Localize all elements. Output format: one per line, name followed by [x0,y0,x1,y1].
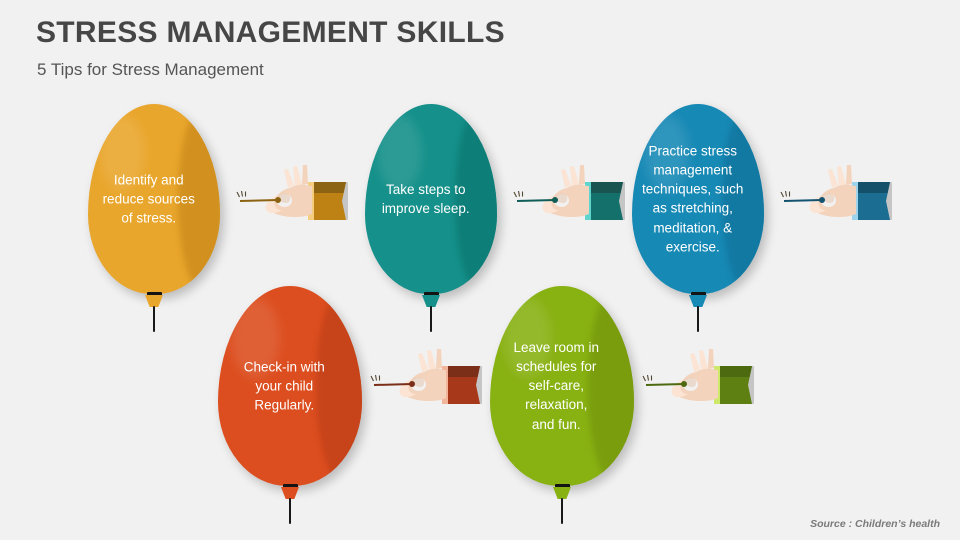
source-credit: Source : Children’s health [810,518,940,530]
hand-holding-pin-icon [644,340,764,420]
balloon-4-label: Check-in with your child Regularly. [227,357,342,414]
hand-holding-pin-icon [372,340,492,420]
balloon-5[interactable]: Leave room in schedules for self-care, r… [490,286,634,486]
balloon-2-label: Take steps to improve sleep. [373,180,479,218]
balloon-5-label: Leave room in schedules for self-care, r… [499,338,614,434]
balloon-knot-band [555,484,570,488]
balloon-string-icon [289,498,291,524]
page-subtitle: 5 Tips for Stress Management [37,60,264,80]
balloon-knot-band [283,484,298,488]
hand-holding-pin-icon [238,156,358,236]
balloon-1[interactable]: Identify and reduce sources of stress. [88,104,220,294]
slide-canvas: STRESS MANAGEMENT SKILLS 5 Tips for Stre… [0,0,960,540]
hand-holding-pin-icon [515,156,635,236]
balloon-3[interactable]: Practice stress management techniques, s… [632,104,764,294]
balloon-3-label: Practice stress management techniques, s… [640,142,746,257]
balloon-1-label: Identify and reduce sources of stress. [96,170,202,227]
balloon-string-icon [697,306,699,332]
balloon-knot-band [147,292,162,296]
balloon-string-icon [153,306,155,332]
hand-holding-pin-icon [782,156,902,236]
page-title: STRESS MANAGEMENT SKILLS [36,16,505,50]
balloon-knot-band [691,292,706,296]
balloon-knot-band [424,292,439,296]
balloon-4[interactable]: Check-in with your child Regularly. [218,286,362,486]
balloon-string-icon [561,498,563,524]
balloon-string-icon [430,306,432,332]
balloon-2[interactable]: Take steps to improve sleep. [365,104,497,294]
